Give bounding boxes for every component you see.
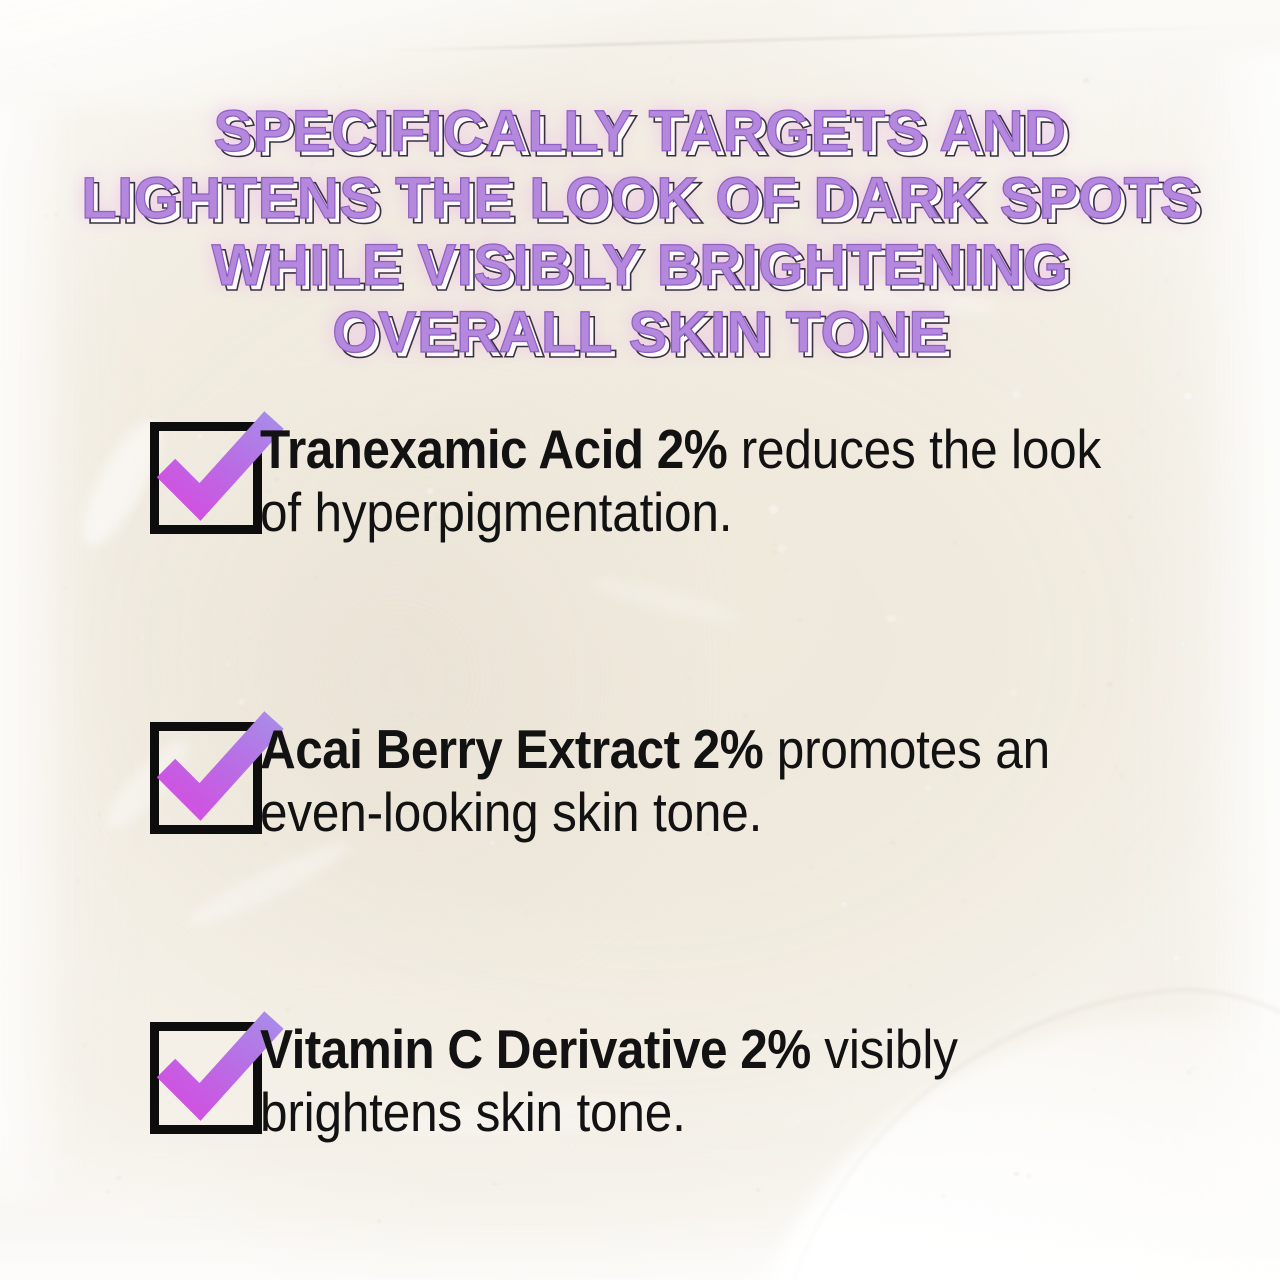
- benefit-copy: Tranexamic Acid 2% reduces the look of h…: [260, 416, 1230, 544]
- headline-line-1-face: SPECIFICALLY TARGETS AND: [213, 99, 1066, 164]
- ingredient-name: Acai Berry Extract 2%: [260, 718, 763, 780]
- benefit-item: Tranexamic Acid 2% reduces the look of h…: [50, 416, 1230, 716]
- checkbox-checked-1[interactable]: [150, 422, 260, 540]
- benefits-list: Tranexamic Acid 2% reduces the look of h…: [50, 416, 1230, 1280]
- headline-line-3-face: WHILE VISIBLY BRIGHTENING: [212, 233, 1069, 298]
- headline-line-4-face: OVERALL SKIN TONE: [332, 300, 947, 365]
- checkbox-cell: [50, 416, 260, 540]
- headline-line-1: SPECIFICALLY TARGETS AND SPECIFICALLY TA…: [50, 98, 1230, 165]
- headline-line-2: LIGHTENS THE LOOK OF DARK SPOTS LIGHTENS…: [50, 165, 1230, 232]
- benefit-item: Acai Berry Extract 2% promotes an even-l…: [50, 716, 1230, 1016]
- benefit-copy: Acai Berry Extract 2% promotes an even-l…: [260, 716, 1230, 844]
- benefit-text: Acai Berry Extract 2% promotes an even-l…: [260, 718, 1124, 844]
- ingredient-name: Vitamin C Derivative 2%: [260, 1018, 811, 1080]
- headline-line-4: OVERALL SKIN TONE OVERALL SKIN TONE OVER…: [50, 299, 1230, 366]
- headline-line-2-face: LIGHTENS THE LOOK OF DARK SPOTS: [81, 166, 1199, 231]
- headline: SPECIFICALLY TARGETS AND SPECIFICALLY TA…: [50, 98, 1230, 366]
- benefit-text: Tranexamic Acid 2% reduces the look of h…: [260, 418, 1124, 544]
- benefit-item: Vitamin C Derivative 2% visibly brighten…: [50, 1016, 1230, 1280]
- checkbox-checked-3[interactable]: [150, 1022, 260, 1140]
- checkbox-checked-2[interactable]: [150, 722, 260, 840]
- checkbox-cell: [50, 1016, 260, 1140]
- product-benefits-graphic: SPECIFICALLY TARGETS AND SPECIFICALLY TA…: [0, 0, 1280, 1280]
- ingredient-name: Tranexamic Acid 2%: [260, 418, 727, 480]
- checkbox-cell: [50, 716, 260, 840]
- benefit-copy: Vitamin C Derivative 2% visibly brighten…: [260, 1016, 1230, 1144]
- benefit-text: Vitamin C Derivative 2% visibly brighten…: [260, 1018, 1124, 1144]
- headline-line-3: WHILE VISIBLY BRIGHTENING WHILE VISIBLY …: [50, 232, 1230, 299]
